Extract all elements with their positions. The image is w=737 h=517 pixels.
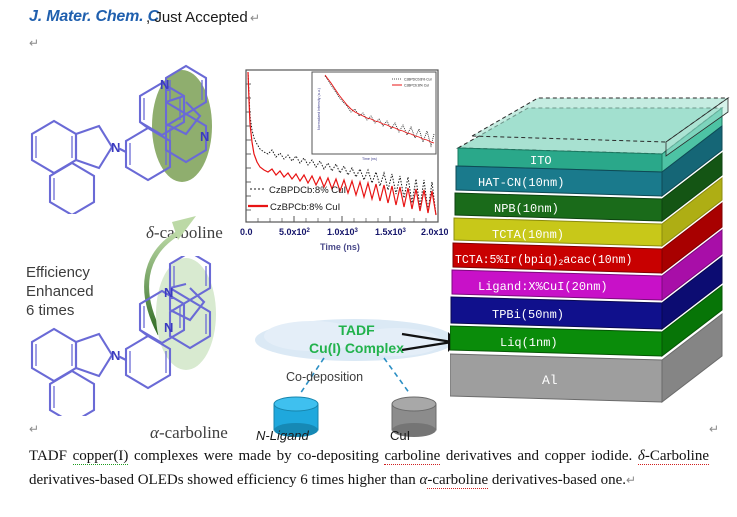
inset-y-axis-label: Normalized Intensity (a.u.): [317, 88, 321, 130]
caption-paragraph: TADF copper(I) complexes were made by co…: [29, 444, 709, 492]
layer-label-tcta-ir: TCTA:5%Ir(bpiq)2acac(10nm): [455, 254, 632, 268]
graphical-abstract-image: N N N δ-carboline Efficiency Enhanced 6 …: [0, 56, 737, 418]
tadf-line-1: TADF: [294, 321, 419, 339]
layer-label-ligand-cui: Ligand:X%CuI(20nm): [478, 280, 608, 294]
nitrogen-label: N: [200, 129, 209, 144]
accepted-status-text: , Just Accepted: [146, 9, 248, 26]
document-header: J. Mater. Chem. C , Just Accepted ↵ ↵: [0, 0, 737, 52]
legend-item-2: CzBPCb:8% CuI: [270, 202, 340, 213]
caption-block: ↵ ↵ TADF copper(I) complexes were made b…: [0, 420, 737, 517]
x-tick-label: 2.0x103: [421, 227, 448, 237]
oled-device-stack: ITO HAT-CN(10nm) NPB(10nm) TCTA(10nm): [450, 62, 735, 414]
pilcrow-mark: ↵: [709, 422, 719, 436]
journal-title: J. Mater. Chem. C: [29, 8, 159, 26]
caption-seg-carboline: carboline: [384, 448, 440, 465]
inset-x-axis-label: Time (ns): [362, 157, 377, 161]
caption-seg-5: derivatives-based one.: [488, 472, 626, 488]
caption-seg-copper: copper(I): [73, 448, 129, 465]
caption-seg-4: derivatives-based OLEDs showed efficienc…: [29, 472, 419, 488]
x-tick-label: 0.0: [240, 227, 253, 237]
greek-delta-caption: δ: [638, 448, 645, 464]
caption-seg-Carboline: -Carboline: [645, 448, 709, 464]
pilcrow-mark: ↵: [29, 422, 39, 436]
layer-label-hat-cn: HAT-CN(10nm): [478, 176, 564, 190]
layer-label-tcta: TCTA(10nm): [492, 228, 564, 242]
x-tick-label: 5.0x102: [279, 227, 311, 237]
x-axis-label: Time (ns): [320, 242, 360, 252]
inset-legend-item: CzBPCb:8% CuI: [404, 84, 429, 88]
inset-legend-item: CzBPDCb:8% CuI: [404, 78, 432, 82]
delta-carboline-molecule: N N N: [14, 64, 234, 214]
x-tick-label: 1.5x103: [375, 227, 407, 237]
codeposition-label: Co-deposition: [286, 370, 363, 384]
highlight-ellipse-alpha: [156, 258, 216, 370]
caption-seg-1: TADF: [29, 448, 73, 464]
codeposition-arrow-right: [384, 358, 410, 394]
codeposition-diagram: TADF Cu(I) Complex Co-deposition N-Ligan…: [252, 318, 458, 418]
decay-chart: Normalized Intensity (a.u.) CzBPDCb:8% C…: [232, 64, 448, 252]
x-tick-label: 1.0x103: [327, 227, 359, 237]
layer-label-liq: Liq(1nm): [500, 336, 558, 350]
layer-label-tpbi: TPBi(50nm): [492, 308, 564, 322]
caption-seg-3: derivatives and copper iodide.: [440, 448, 638, 464]
pilcrow-mark: ↵: [626, 473, 636, 487]
legend-item-1: CzBPDCb:8% CuI: [269, 185, 346, 196]
caption-seg-carboline-2: -carboline: [427, 472, 488, 489]
layer-label-ito: ITO: [530, 154, 552, 168]
tadf-line-2: Cu(I) Complex: [294, 339, 419, 357]
tadf-complex-label: TADF Cu(I) Complex: [294, 321, 419, 357]
pilcrow-mark: ↵: [29, 36, 39, 50]
layer-label-al: Al: [542, 373, 558, 388]
nitrogen-label: N: [164, 320, 173, 335]
layer-label-npb: NPB(10nm): [494, 202, 559, 216]
caption-seg-2: complexes were made by co-depositing: [128, 448, 384, 464]
alpha-carboline-molecule: N N N: [14, 256, 234, 411]
pilcrow-mark: ↵: [250, 11, 260, 25]
